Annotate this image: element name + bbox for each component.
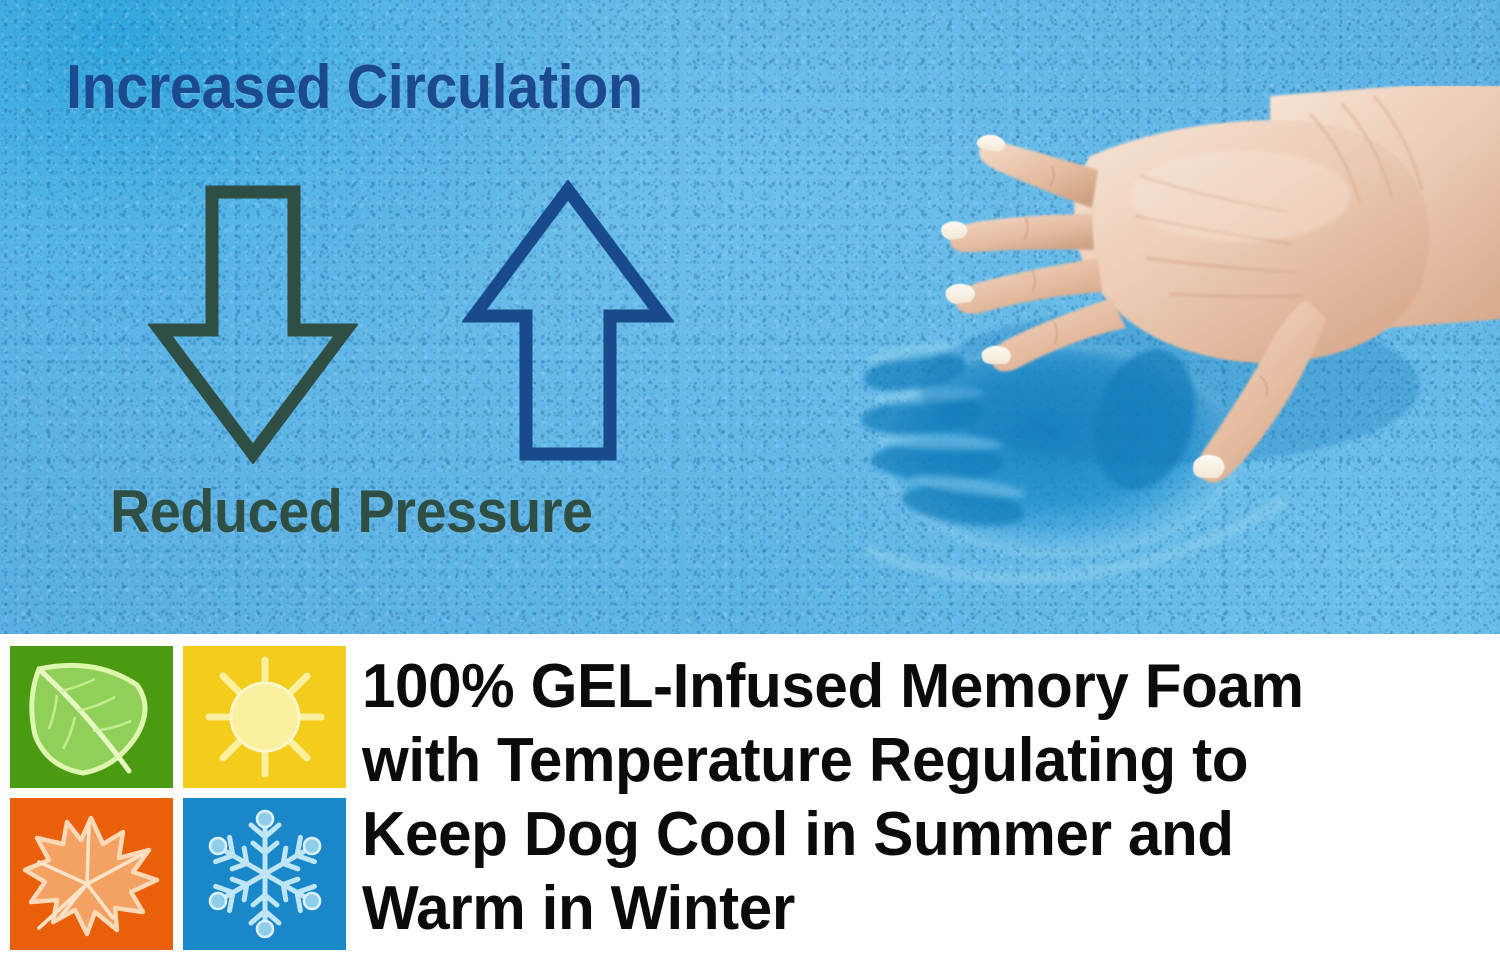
up-arrow-icon <box>462 180 674 464</box>
sun-icon <box>195 652 335 782</box>
maple-leaf-icon <box>17 806 167 942</box>
product-feature-graphic: Increased Circulation Reduced Pressure <box>0 0 1500 962</box>
down-arrow-icon <box>148 182 358 464</box>
reduced-pressure-label: Reduced Pressure <box>110 482 593 542</box>
winter-snow-tile <box>183 798 346 950</box>
summer-sun-tile <box>183 646 346 788</box>
spring-leaf-tile <box>10 646 173 788</box>
headline-line-3: Keep Dog Cool in Summer and <box>362 798 1464 872</box>
feature-caption-band: 100% GEL-Infused Memory Foam with Temper… <box>0 634 1500 962</box>
headline-line-2: with Temperature Regulating to <box>362 724 1464 798</box>
autumn-leaf-tile <box>10 798 173 950</box>
increased-circulation-label: Increased Circulation <box>66 57 643 119</box>
season-tiles-grid <box>10 646 346 950</box>
headline-line-1: 100% GEL-Infused Memory Foam <box>362 650 1464 724</box>
snowflake-icon <box>195 805 335 943</box>
headline-text: 100% GEL-Infused Memory Foam with Temper… <box>362 650 1498 946</box>
leaf-icon <box>17 651 167 783</box>
headline-line-4: Warm in Winter <box>362 872 1464 946</box>
hand-icon <box>840 86 1500 526</box>
gel-foam-photo: Increased Circulation Reduced Pressure <box>0 0 1500 634</box>
